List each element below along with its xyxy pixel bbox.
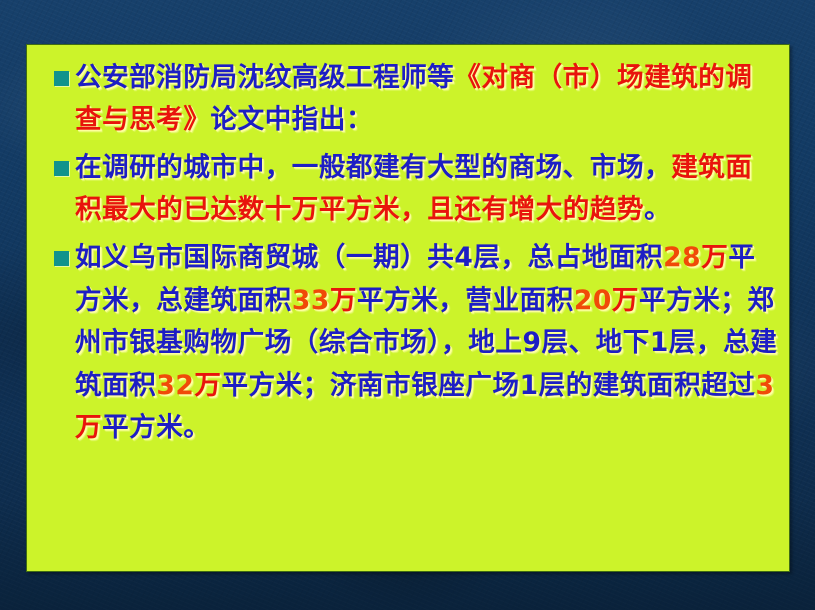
- bullet-3-run-1: 如义乌市国际商贸城（一期）共4层，总占地面积: [75, 242, 663, 273]
- slide-content-panel: 公安部消防局沈纹高级工程师等《对商（市）场建筑的调查与思考》论文中指出： 在调研…: [26, 44, 790, 572]
- bullet-2-run-3: 。: [644, 194, 671, 225]
- bullet-item-1: 公安部消防局沈纹高级工程师等《对商（市）场建筑的调查与思考》论文中指出：: [37, 57, 779, 141]
- bullet-3-run-7: 平方米，营业面积: [357, 285, 574, 316]
- bullet-item-3: 如义乌市国际商贸城（一期）共4层，总占地面积28万平方米，总建筑面积33万平方米…: [37, 237, 779, 450]
- bullet-3-run-13: 平方米；济南市银座广场1层的建筑面积超过: [222, 370, 756, 401]
- bullet-3-run-5: 33: [292, 285, 330, 316]
- bullet-2-paragraph: 在调研的城市中，一般都建有大型的商场、市场，建筑面积最大的已达数十万平方米，且还…: [75, 147, 779, 231]
- presentation-slide: 公安部消防局沈纹高级工程师等《对商（市）场建筑的调查与思考》论文中指出： 在调研…: [0, 0, 815, 610]
- bullet-1-run-3: 论文中指出：: [211, 104, 374, 135]
- bullet-3-run-3: 万: [701, 242, 728, 273]
- bullet-1-run-1: 公安部消防局沈纹高级工程师等: [75, 62, 454, 93]
- bullet-3-run-11: 32: [156, 370, 194, 401]
- bullet-3-run-2: 28: [663, 242, 701, 273]
- square-bullet-icon: [54, 161, 69, 176]
- bullet-3-paragraph: 如义乌市国际商贸城（一期）共4层，总占地面积28万平方米，总建筑面积33万平方米…: [75, 237, 779, 450]
- bullet-3-run-12: 万: [194, 370, 221, 401]
- bullet-3-run-6: 万: [330, 285, 357, 316]
- bullet-item-2: 在调研的城市中，一般都建有大型的商场、市场，建筑面积最大的已达数十万平方米，且还…: [37, 147, 779, 231]
- bullet-3-run-9: 万: [612, 285, 639, 316]
- square-bullet-icon: [54, 71, 69, 86]
- bullet-3-run-8: 20: [574, 285, 612, 316]
- bullet-1-paragraph: 公安部消防局沈纹高级工程师等《对商（市）场建筑的调查与思考》论文中指出：: [75, 57, 779, 141]
- bullet-3-run-14: 3: [755, 370, 774, 401]
- square-bullet-icon: [54, 251, 69, 266]
- bullet-2-run-1: 在调研的城市中，一般都建有大型的商场、市场，: [75, 152, 671, 183]
- bullet-3-run-15: 万: [75, 412, 102, 443]
- bullet-3-run-16: 平方米。: [102, 412, 210, 443]
